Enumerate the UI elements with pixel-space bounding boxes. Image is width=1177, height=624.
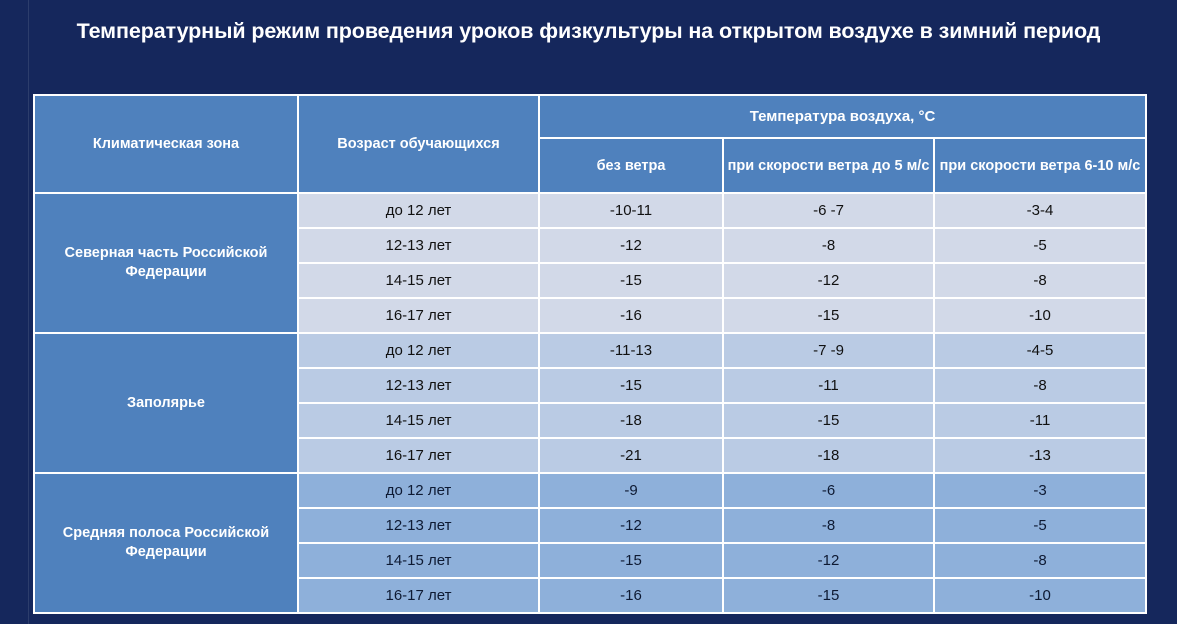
cell-wind10: -3 <box>935 474 1145 507</box>
cell-wind5: -15 <box>724 404 933 437</box>
table-row: Заполярье до 12 лет -11-13 -7 -9 -4-5 <box>35 334 1145 367</box>
cell-wind5: -12 <box>724 264 933 297</box>
cell-age: 16-17 лет <box>299 299 538 332</box>
table-header: Климатическая зона Возраст обучающихся Т… <box>35 96 1145 192</box>
cell-wind5: -18 <box>724 439 933 472</box>
cell-age: 12-13 лет <box>299 369 538 402</box>
cell-wind5: -11 <box>724 369 933 402</box>
cell-age: 16-17 лет <box>299 439 538 472</box>
table-block-polar: Заполярье до 12 лет -11-13 -7 -9 -4-5 12… <box>35 334 1145 472</box>
column-header-no-wind: без ветра <box>540 139 722 192</box>
cell-no-wind: -10-11 <box>540 194 722 227</box>
cell-wind5: -12 <box>724 544 933 577</box>
cell-wind5: -8 <box>724 509 933 542</box>
cell-no-wind: -18 <box>540 404 722 437</box>
column-header-wind-6-10: при скорости ветра 6-10 м/с <box>935 139 1145 192</box>
table-block-middle: Средняя полоса Российской Федерации до 1… <box>35 474 1145 612</box>
cell-age: 12-13 лет <box>299 229 538 262</box>
cell-age: до 12 лет <box>299 334 538 367</box>
column-header-student-age: Возраст обучающихся <box>299 96 538 192</box>
cell-age: 14-15 лет <box>299 264 538 297</box>
cell-no-wind: -11-13 <box>540 334 722 367</box>
zone-label-north: Северная часть Российской Федерации <box>35 194 297 332</box>
cell-no-wind: -16 <box>540 299 722 332</box>
table-row: Средняя полоса Российской Федерации до 1… <box>35 474 1145 507</box>
cell-wind5: -15 <box>724 299 933 332</box>
cell-wind10: -5 <box>935 229 1145 262</box>
cell-no-wind: -15 <box>540 544 722 577</box>
zone-label-polar: Заполярье <box>35 334 297 472</box>
cell-wind10: -11 <box>935 404 1145 437</box>
column-header-air-temperature: Температура воздуха, °C <box>540 96 1145 137</box>
cell-age: 14-15 лет <box>299 544 538 577</box>
table-header-row-top: Климатическая зона Возраст обучающихся Т… <box>35 96 1145 137</box>
cell-no-wind: -12 <box>540 509 722 542</box>
cell-wind5: -8 <box>724 229 933 262</box>
page-title: Температурный режим проведения уроков фи… <box>50 17 1127 46</box>
cell-wind10: -8 <box>935 544 1145 577</box>
cell-age: 16-17 лет <box>299 579 538 612</box>
cell-no-wind: -12 <box>540 229 722 262</box>
cell-wind5: -15 <box>724 579 933 612</box>
cell-wind10: -8 <box>935 264 1145 297</box>
table-row: Северная часть Российской Федерации до 1… <box>35 194 1145 227</box>
cell-age: 14-15 лет <box>299 404 538 437</box>
cell-age: 12-13 лет <box>299 509 538 542</box>
column-header-wind-up-to-5: при скорости ветра до 5 м/с <box>724 139 933 192</box>
table-block-north: Северная часть Российской Федерации до 1… <box>35 194 1145 332</box>
cell-no-wind: -16 <box>540 579 722 612</box>
cell-wind10: -3-4 <box>935 194 1145 227</box>
cell-no-wind: -9 <box>540 474 722 507</box>
cell-wind10: -13 <box>935 439 1145 472</box>
cell-no-wind: -21 <box>540 439 722 472</box>
temperature-regime-table: Климатическая зона Возраст обучающихся Т… <box>33 94 1147 614</box>
cell-age: до 12 лет <box>299 194 538 227</box>
cell-wind10: -10 <box>935 579 1145 612</box>
cell-wind10: -5 <box>935 509 1145 542</box>
cell-wind5: -6 -7 <box>724 194 933 227</box>
cell-age: до 12 лет <box>299 474 538 507</box>
cell-wind5: -6 <box>724 474 933 507</box>
cell-wind10: -8 <box>935 369 1145 402</box>
cell-no-wind: -15 <box>540 369 722 402</box>
slide-left-edge-line <box>28 0 29 624</box>
cell-wind10: -10 <box>935 299 1145 332</box>
zone-label-middle: Средняя полоса Российской Федерации <box>35 474 297 612</box>
cell-no-wind: -15 <box>540 264 722 297</box>
column-header-climate-zone: Климатическая зона <box>35 96 297 192</box>
cell-wind5: -7 -9 <box>724 334 933 367</box>
cell-wind10: -4-5 <box>935 334 1145 367</box>
